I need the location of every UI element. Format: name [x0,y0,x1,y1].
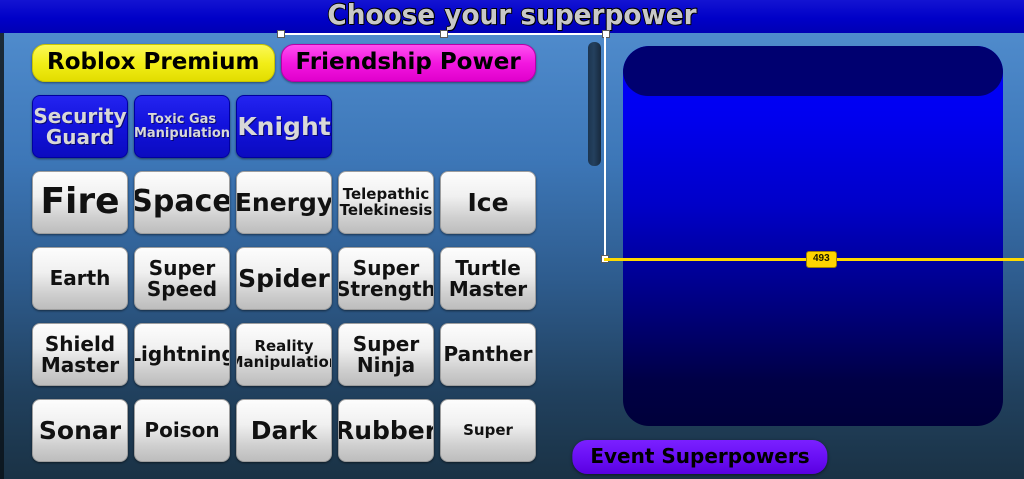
event-superpowers-button[interactable]: Event Superpowers [572,440,827,474]
selection-handle-top-mid[interactable] [440,30,448,38]
power-button-super-strength[interactable]: Super Strength [338,247,434,310]
pill-friendship-power[interactable]: Friendship Power [281,44,536,82]
power-button-space[interactable]: Space [134,171,230,234]
power-row: Sonar Poison Dark Rubber Super [32,399,592,462]
power-button-ice[interactable]: Ice [440,171,536,234]
power-button-super[interactable]: Super [440,399,536,462]
power-button-super-ninja[interactable]: Super Ninja [338,323,434,386]
power-row: Fire Space Energy Telepathic Telekinesis… [32,171,592,234]
power-button-poison[interactable]: Poison [134,399,230,462]
power-button-toxic-gas-manipulation[interactable]: Toxic Gas Manipulation [134,95,230,158]
power-button-telepathic-telekinesis[interactable]: Telepathic Telekinesis [338,171,434,234]
power-button-spider[interactable]: Spider [236,247,332,310]
power-button-earth[interactable]: Earth [32,247,128,310]
power-row: Earth Super Speed Spider Super Strength … [32,247,592,310]
power-list-panel[interactable]: Roblox Premium Friendship Power Security… [4,33,598,479]
power-row: Security Guard Toxic Gas Manipulation Kn… [32,95,592,158]
power-button-turtle-master[interactable]: Turtle Master [440,247,536,310]
title-bar: Choose your superpower [0,0,1024,33]
power-button-security-guard[interactable]: Security Guard [32,95,128,158]
measure-badge: 493 [806,251,837,268]
selection-handle-top-left[interactable] [277,30,285,38]
power-button-knight[interactable]: Knight [236,95,332,158]
power-button-reality-manipulation[interactable]: Reality Manipulation [236,323,332,386]
power-button-sonar[interactable]: Sonar [32,399,128,462]
power-button-super-speed[interactable]: Super Speed [134,247,230,310]
page-title: Choose your superpower [31,0,994,31]
selection-guide-vertical [604,33,606,259]
power-button-dark[interactable]: Dark [236,399,332,462]
game-screen: Choose your superpower Roblox Premium Fr… [0,0,1024,479]
power-row: Shield Master Lightning Reality Manipula… [32,323,592,386]
power-button-energy[interactable]: Energy [236,171,332,234]
preview-panel [623,46,1003,426]
preview-panel-header [623,46,1003,96]
pill-roblox-premium[interactable]: Roblox Premium [32,44,275,82]
power-button-lightning[interactable]: Lightning [134,323,230,386]
power-button-fire[interactable]: Fire [32,171,128,234]
power-button-rubber[interactable]: Rubber [338,399,434,462]
power-button-shield-master[interactable]: Shield Master [32,323,128,386]
power-button-panther[interactable]: Panther [440,323,536,386]
power-button-grid: Security Guard Toxic Gas Manipulation Kn… [32,95,592,475]
featured-pill-row: Roblox Premium Friendship Power [32,44,536,82]
power-list-scrollbar-thumb[interactable] [588,42,601,166]
